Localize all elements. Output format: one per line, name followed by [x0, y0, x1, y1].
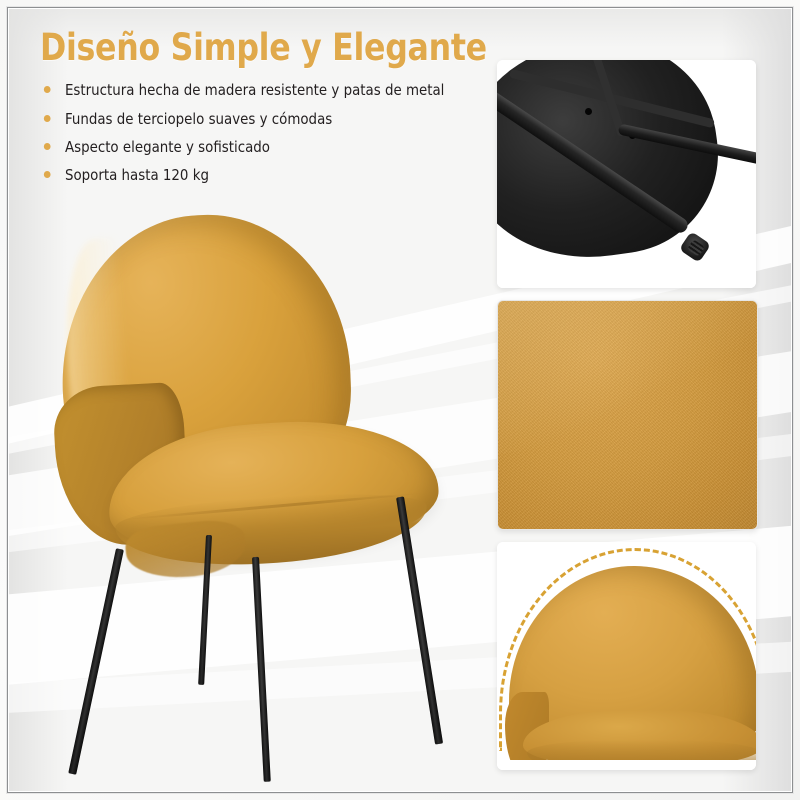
bullet-dot-icon [44, 115, 51, 122]
list-item: Estructura hecha de madera resistente y … [40, 81, 462, 99]
bullet-dot-icon [44, 143, 51, 150]
metal-detail-fade [497, 260, 756, 288]
bullet-dot-icon [44, 86, 51, 93]
chair-leg [252, 557, 271, 782]
chair-leg [396, 496, 443, 744]
detail-panel-backrest-curve [497, 542, 756, 770]
feature-text: Aspecto elegante y sofisticado [65, 138, 270, 156]
header-block: Diseño Simple y Elegante Estructura hech… [40, 28, 480, 194]
velvet-fabric-swatch [498, 301, 757, 529]
velvet-sheen [497, 300, 758, 456]
backrest-detail-fade [497, 760, 756, 770]
feature-list: Estructura hecha de madera resistente y … [40, 81, 480, 184]
detail-panel-stack [497, 60, 756, 782]
list-item: Soporta hasta 120 kg [40, 166, 462, 184]
product-feature-banner: Diseño Simple y Elegante Estructura hech… [0, 0, 800, 800]
detail-panel-velvet-fabric [497, 300, 758, 530]
bullet-dot-icon [44, 171, 51, 178]
metal-detail-image [497, 60, 756, 288]
detail-panel-metal-legs [497, 60, 756, 288]
list-item: Aspecto elegante y sofisticado [40, 138, 462, 156]
chair-leg [68, 548, 124, 775]
chair-illustration [30, 205, 490, 785]
ergonomic-curve-dashed-outline [499, 548, 756, 751]
page-title: Diseño Simple y Elegante [40, 28, 458, 67]
feature-text: Soporta hasta 120 kg [65, 166, 209, 184]
hero-product-image [30, 205, 490, 785]
backrest-detail-image [497, 542, 756, 770]
metal-frame-hole [585, 108, 592, 115]
feature-text: Estructura hecha de madera resistente y … [65, 81, 444, 99]
list-item: Fundas de terciopelo suaves y cómodas [40, 110, 462, 128]
feature-text: Fundas de terciopelo suaves y cómodas [65, 110, 332, 128]
